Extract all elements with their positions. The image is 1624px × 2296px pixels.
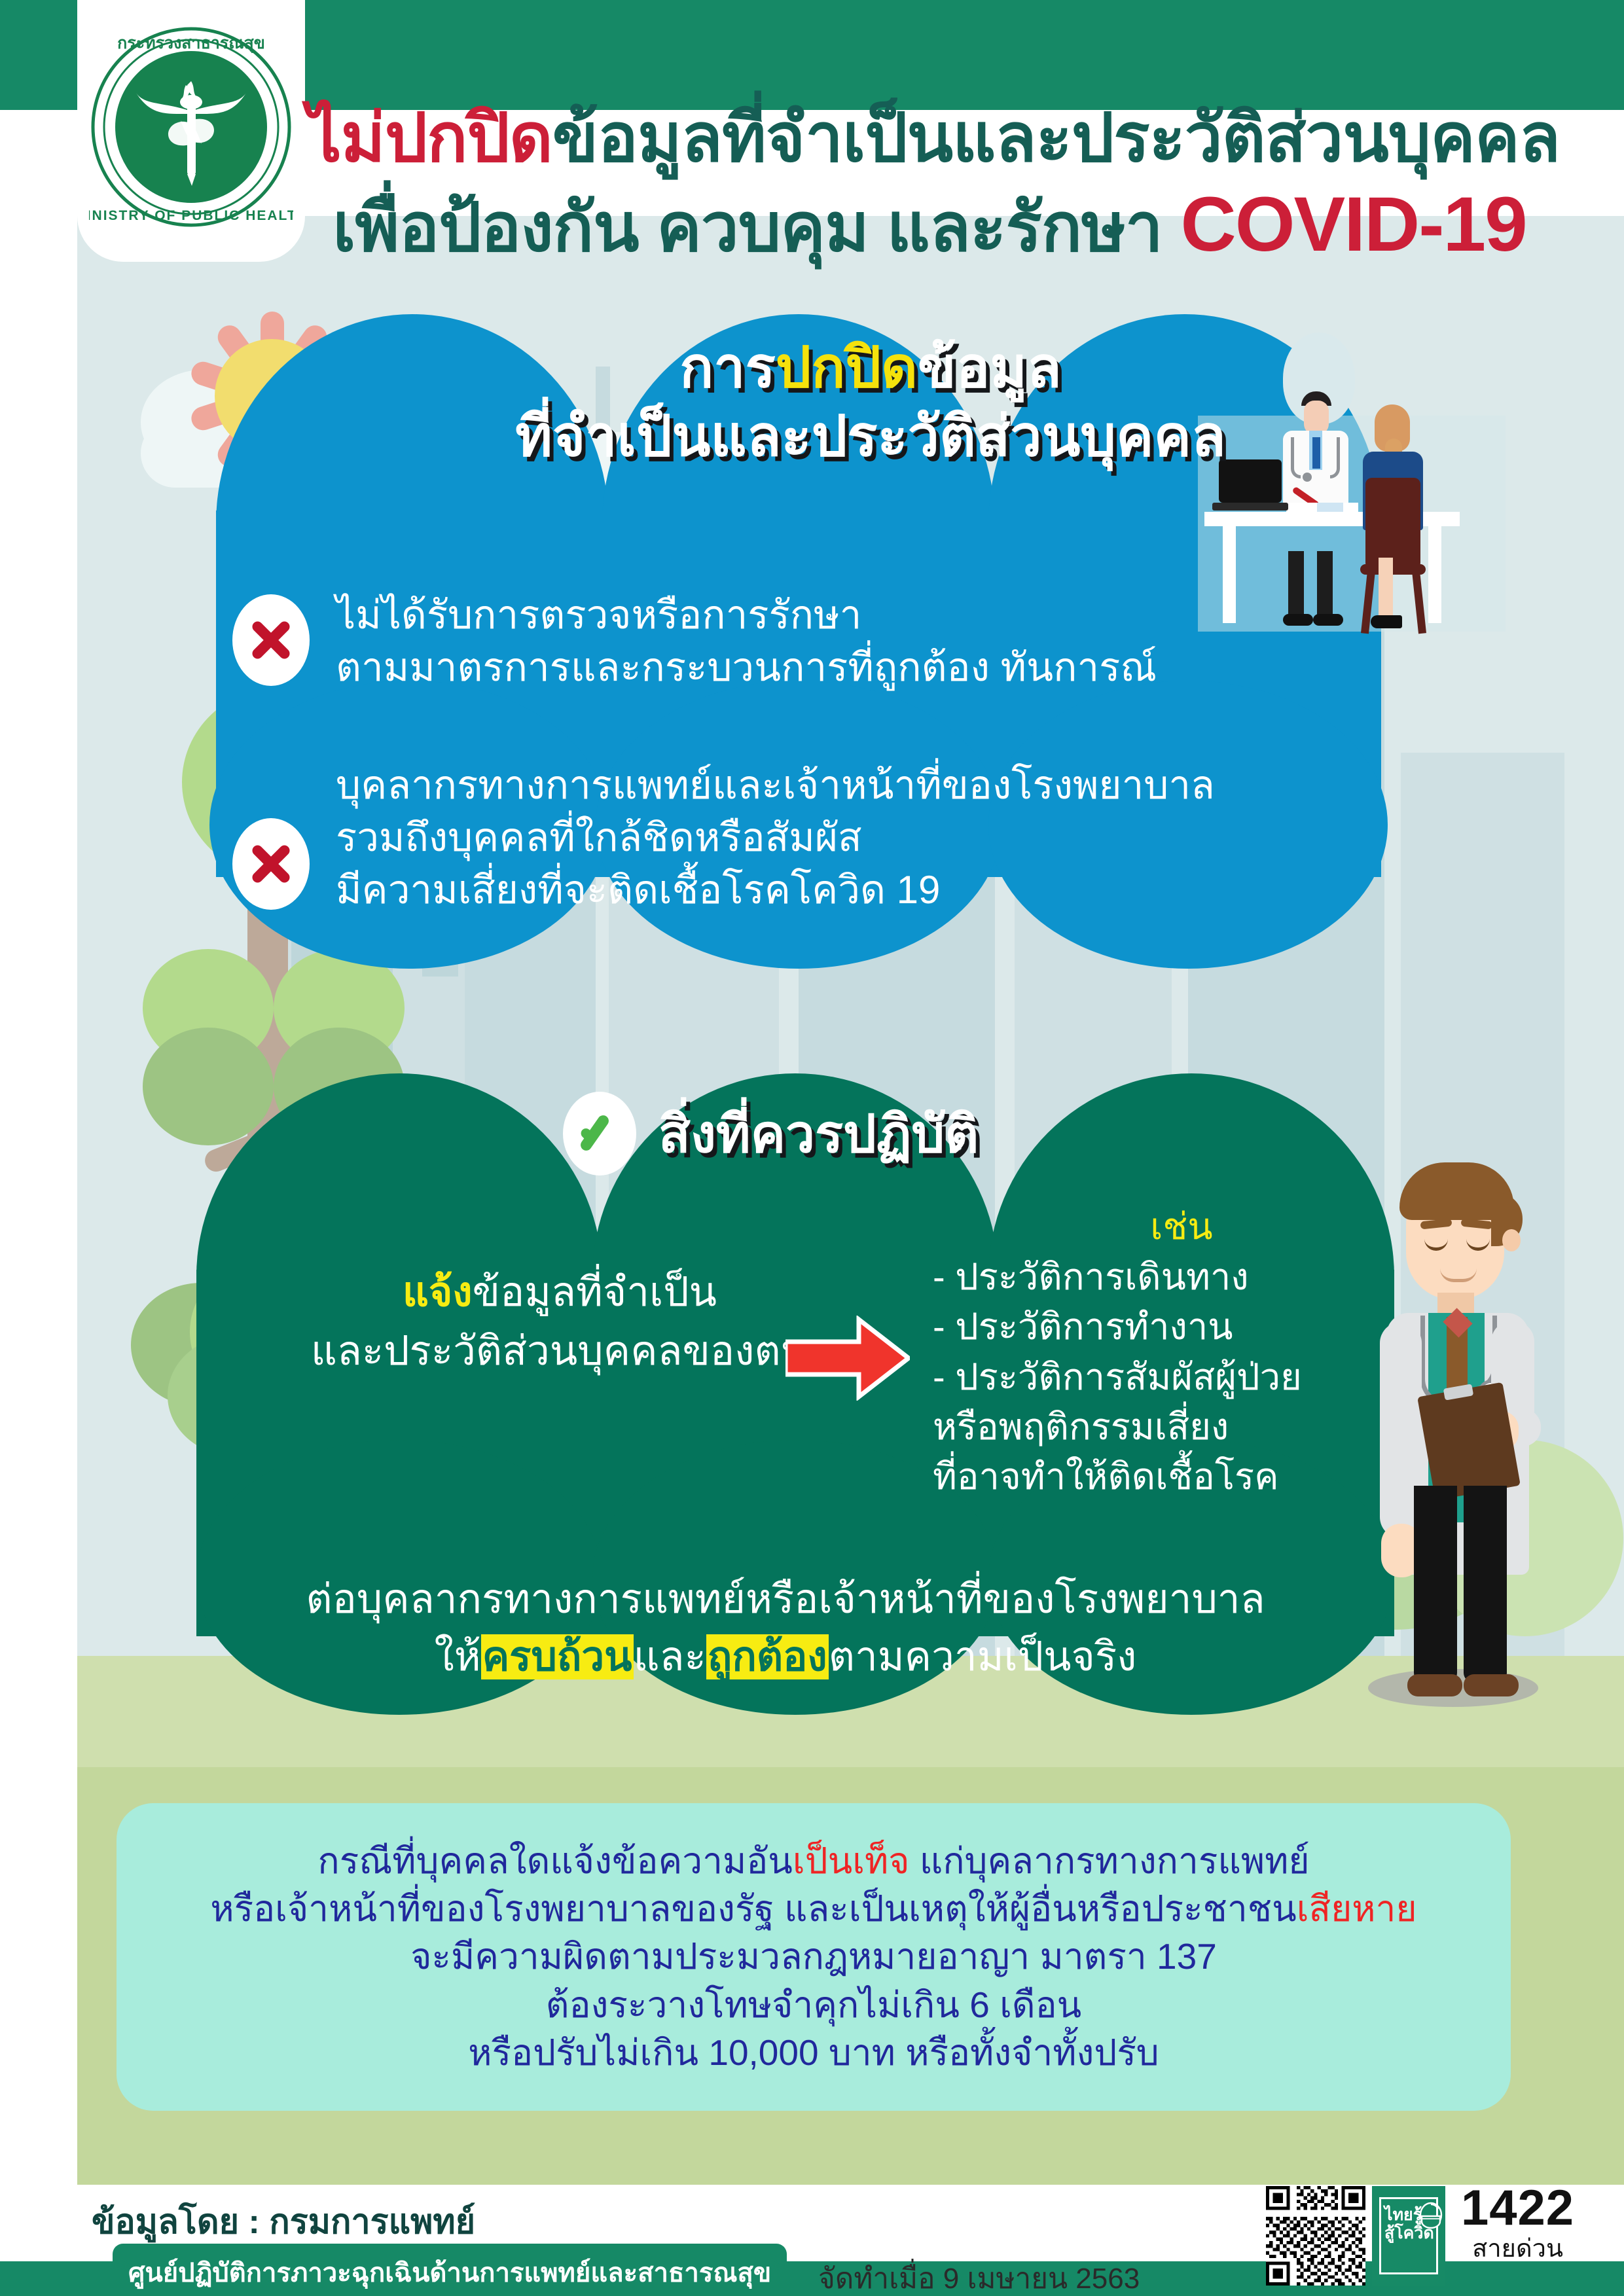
- title-line1-rest: ข้อมูลที่จำเป็นและประวัติส่วนบุคคล: [552, 100, 1560, 175]
- green-bottom-text: ต่อบุคลากรทางการแพทย์หรือเจ้าหน้าที่ของโ…: [196, 1571, 1375, 1686]
- footer-source: ข้อมูลโดย : กรมการแพทย์: [92, 2194, 475, 2248]
- badge-frame: ไทยรู้ สู้โควิด: [1379, 2197, 1438, 2274]
- law-line1-a: กรณีที่บุคคลใดแจ้งข้อความอัน: [317, 1840, 793, 1881]
- hotline-label: สายด่วน: [1461, 2236, 1574, 2263]
- example-item: - ประวัติการเดินทาง: [933, 1252, 1430, 1302]
- blue-bullet-line: รวมถึงบุคคลที่ใกล้ชิดหรือสัมผัส: [336, 812, 1215, 864]
- right-arrow-icon: [785, 1316, 910, 1404]
- x-mark-icon: [232, 594, 310, 686]
- green-left-rest: ข้อมูลที่จำเป็น: [473, 1270, 717, 1315]
- blue-bullet-row: บุคลากรทางการแพทย์และเจ้าหน้าที่ของโรงพย…: [232, 759, 1215, 916]
- law-line1-b: แก่บุคลากรทางการแพทย์: [910, 1840, 1310, 1881]
- title-line2-highlight: COVID-19: [1181, 181, 1526, 268]
- poster-title: ไม่ปกปิดข้อมูลที่จำเป็นและประวัติส่วนบุค…: [308, 98, 1551, 272]
- law-line5: หรือปรับไม่เกิน 10,000 บาท หรือทั้งจำทั้…: [468, 2029, 1159, 2077]
- blue-heading-part-a: การ: [679, 336, 776, 399]
- green-bottom-line1: ต่อบุคลากรทางการแพทย์หรือเจ้าหน้าที่ของโ…: [196, 1571, 1375, 1628]
- hotline-number: 1422: [1461, 2183, 1574, 2233]
- blue-heading-part-c: ข้อมูล: [918, 336, 1062, 399]
- green-bottom-c: ตามความเป็นจริง: [829, 1634, 1137, 1679]
- green-left-highlight: แจ้ง: [403, 1270, 473, 1315]
- masked-face-icon: [1416, 2202, 1445, 2233]
- law-line3: จะมีความผิดตามประมวลกฎหมายอาญา มาตรา 137: [410, 1933, 1217, 1981]
- blue-section-heading: การปกปิดข้อมูล ที่จำเป็นและประวัติส่วนบุ…: [458, 334, 1283, 471]
- law-line2-highlight: เสียหาย: [1297, 1888, 1417, 1929]
- legal-penalty-box: กรณีที่บุคคลใดแจ้งข้อความอันเป็นเท็จ แก่…: [117, 1803, 1511, 2111]
- green-bottom-highlight-1: ครบถ้วน: [481, 1634, 634, 1679]
- blue-bullet-line: ตามมาตรการและกระบวนการที่ถูกต้อง ทันการณ…: [336, 641, 1157, 694]
- blue-heading-line2: ที่จำเป็นและประวัติส่วนบุคคล: [458, 403, 1283, 471]
- example-item: ที่อาจทำให้ติดเชื้อโรค: [933, 1452, 1430, 1501]
- law-line2-a: หรือเจ้าหน้าที่ของโรงพยาบาลของรัฐ และเป็…: [210, 1888, 1296, 1929]
- green-heading-text: สิ่งที่ควรปฏิบัติ: [659, 1092, 979, 1175]
- footer-org-pill: ศูนย์ปฏิบัติการภาวะฉุกเฉินด้านการแพทย์แล…: [113, 2244, 787, 2296]
- ministry-of-public-health-seal-icon: กระทรวงสาธารณสุข MINISTRY OF PUBLIC HEAL…: [89, 25, 293, 229]
- blue-bullet-line: มีความเสี่ยงที่จะติดเชื้อโรคโควิด 19: [336, 864, 1215, 916]
- blue-heading-highlight: ปกปิด: [776, 336, 918, 399]
- green-bottom-highlight-2: ถูกต้อง: [706, 1634, 829, 1679]
- example-item: - ประวัติการทำงาน: [933, 1302, 1430, 1352]
- footer-org-label: ศูนย์ปฏิบัติการภาวะฉุกเฉินด้านการแพทย์แล…: [128, 2251, 771, 2293]
- green-examples-list: เช่น - ประวัติการเดินทาง - ประวัติการทำง…: [933, 1204, 1430, 1501]
- hotline-block: 1422 สายด่วน: [1461, 2183, 1574, 2263]
- examples-label: เช่น: [933, 1204, 1430, 1248]
- green-bottom-b: และ: [634, 1634, 706, 1679]
- footer-date: จัดทำเมื่อ 9 เมษายน 2563: [818, 2255, 1140, 2296]
- law-line1-highlight: เป็นเท็จ: [793, 1840, 910, 1881]
- blue-bullet-line: บุคลากรทางการแพทย์และเจ้าหน้าที่ของโรงพย…: [336, 759, 1215, 812]
- svg-text:MINISTRY OF PUBLIC HEALTH: MINISTRY OF PUBLIC HEALTH: [89, 208, 293, 223]
- green-bottom-a: ให้: [435, 1634, 481, 1679]
- check-circle-icon: [563, 1092, 636, 1175]
- example-item: หรือพฤติกรรมเสี่ยง: [933, 1402, 1430, 1452]
- example-item: - ประวัติการสัมผัสผู้ป่วย: [933, 1352, 1430, 1402]
- green-section-heading: สิ่งที่ควรปฏิบัติ: [563, 1092, 979, 1175]
- title-line1-highlight: ไม่ปกปิด: [308, 100, 552, 175]
- qr-code-icon[interactable]: [1266, 2186, 1365, 2286]
- blue-bullet-row: ไม่ได้รับการตรวจหรือการรักษา ตามมาตรการแ…: [232, 589, 1157, 694]
- title-line2-rest: เพื่อป้องกัน ควบคุม และรักษา: [333, 190, 1180, 265]
- poster-root: กระทรวงสาธารณสุข MINISTRY OF PUBLIC HEAL…: [0, 0, 1624, 2296]
- thai-fight-covid-badge: ไทยรู้ สู้โควิด: [1372, 2186, 1445, 2286]
- law-line4: ต้องระวางโทษจำคุกไม่เกิน 6 เดือน: [546, 1981, 1081, 2029]
- blue-bullet-line: ไม่ได้รับการตรวจหรือการรักษา: [336, 589, 1157, 641]
- clipboard-icon: [1417, 1382, 1521, 1500]
- x-mark-icon: [232, 818, 310, 910]
- svg-text:กระทรวงสาธารณสุข: กระทรวงสาธารณสุข: [117, 34, 265, 54]
